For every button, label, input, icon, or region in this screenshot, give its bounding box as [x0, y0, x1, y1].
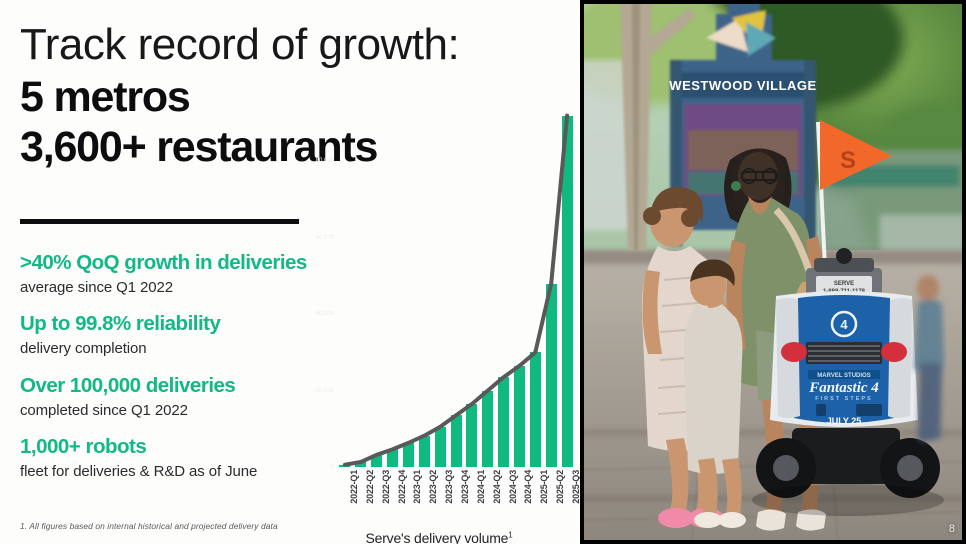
chart-bar: [435, 427, 446, 467]
robot-serve-label: SERVE: [834, 281, 854, 287]
chart-bar: [482, 391, 493, 467]
chart-bar: [530, 352, 541, 467]
robot-badge-number: 4: [840, 317, 848, 332]
y-axis-tick: 40,000: [316, 311, 334, 317]
left-content-panel: Track record of growth: 5 metros 3,600+ …: [0, 0, 580, 544]
y-axis-tick: 0: [331, 464, 334, 470]
chart-bar: [514, 366, 525, 467]
x-axis-tick: 2023-Q1: [412, 470, 422, 504]
hero-photo: WESTWOOD VILLAGE: [580, 0, 966, 544]
chart-bar: [466, 404, 477, 467]
y-axis-labels: 020,00040,00060,00080,000: [300, 85, 336, 467]
footnote: 1. All figures based on internal histori…: [20, 521, 278, 531]
x-axis-tick: 2023-Q4: [460, 470, 470, 504]
chart-caption-text: Serve's delivery volume: [365, 530, 508, 544]
delivery-volume-chart: 020,00040,00060,00080,000 2022-Q12022-Q2…: [300, 60, 578, 530]
chart-bar: [355, 462, 366, 467]
x-axis-tick: 2025-Q1: [539, 470, 549, 504]
y-axis-tick: 20,000: [316, 388, 334, 394]
x-axis-labels: 2022-Q12022-Q22022-Q32022-Q42023-Q12023-…: [337, 470, 575, 532]
page-number: 8: [949, 523, 955, 535]
divider-rule: [20, 219, 299, 224]
x-axis-tick: 2022-Q2: [365, 470, 375, 504]
robot-ad-subtitle: FIRST STEPS: [815, 396, 872, 402]
x-axis-tick: 2025-Q2: [555, 470, 565, 504]
chart-bar: [451, 415, 462, 467]
x-axis-tick: 2022-Q3: [381, 470, 391, 504]
robot-ad-title: Fantastic 4: [808, 380, 879, 396]
y-axis-tick: 60,000: [316, 235, 334, 241]
robot-ad-studio: MARVEL STUDIOS: [817, 373, 870, 379]
x-axis-tick: 2022-Q1: [349, 470, 359, 504]
bar-series: [337, 85, 575, 467]
x-axis-tick: 2024-Q3: [508, 470, 518, 504]
chart-caption: Serve's delivery volume1: [300, 530, 578, 544]
robot-ad-date: JULY 25: [827, 416, 862, 426]
chart-bar: [498, 377, 509, 467]
serve-flag-logo: S: [840, 147, 856, 174]
chart-bar: [562, 116, 573, 467]
x-axis-tick: 2024-Q1: [476, 470, 486, 504]
sign-text: WESTWOOD VILLAGE: [669, 78, 816, 93]
chart-bar: [371, 455, 382, 467]
x-axis-tick: 2024-Q2: [492, 470, 502, 504]
chart-plot-area: [337, 85, 575, 467]
chart-caption-footnote-marker: 1: [508, 530, 512, 539]
y-axis-tick: 80,000: [316, 158, 334, 164]
chart-bar: [403, 443, 414, 467]
photo-illustration: WESTWOOD VILLAGE: [580, 0, 966, 544]
chart-bar: [419, 436, 430, 467]
chart-bar: [387, 449, 398, 467]
x-axis-tick: 2022-Q4: [397, 470, 407, 504]
chart-bar: [339, 465, 350, 467]
x-axis-tick: 2023-Q3: [444, 470, 454, 504]
presentation-slide: Track record of growth: 5 metros 3,600+ …: [0, 0, 966, 544]
chart-bar: [546, 284, 557, 467]
x-axis-tick: 2023-Q2: [428, 470, 438, 504]
x-axis-tick: 2024-Q4: [523, 470, 533, 504]
